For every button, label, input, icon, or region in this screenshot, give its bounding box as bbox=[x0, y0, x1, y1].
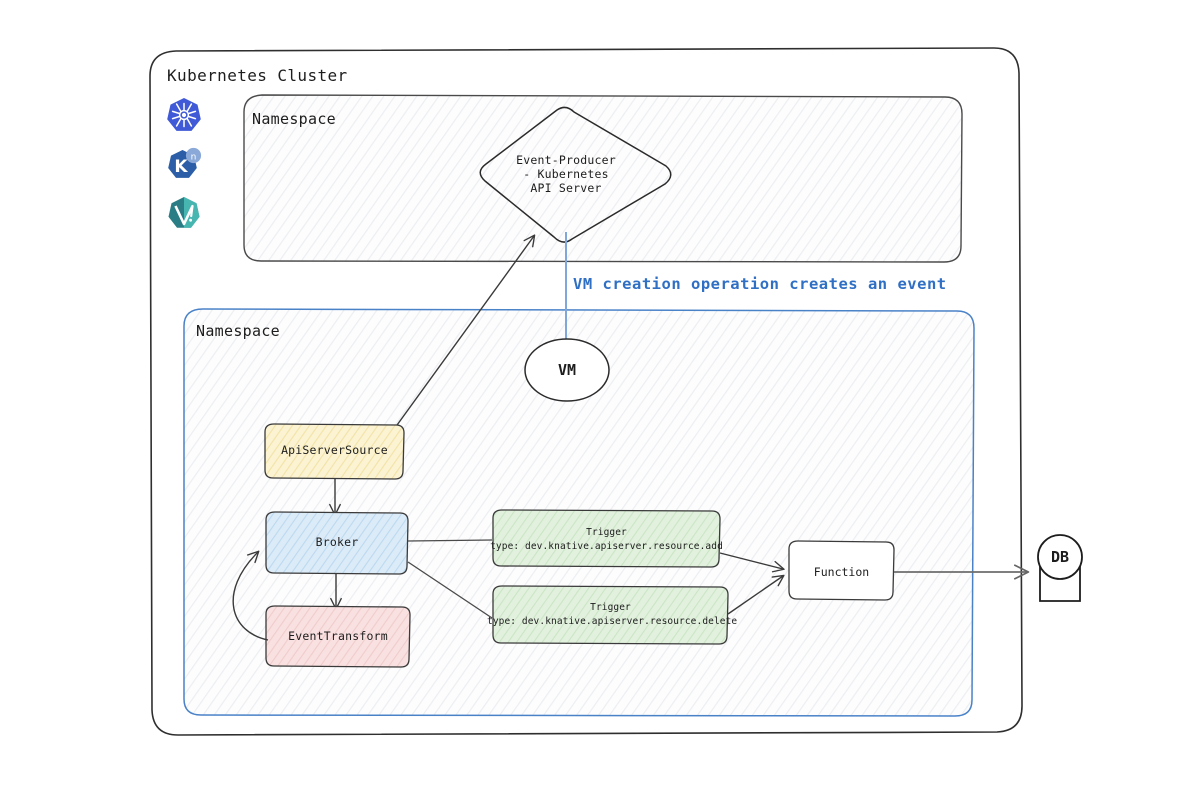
kubevirt-logo bbox=[164, 194, 204, 234]
knative-logo: K n bbox=[164, 145, 204, 185]
event-producer-line2: - Kubernetes bbox=[476, 168, 656, 182]
trigger-delete-title: Trigger bbox=[493, 602, 728, 614]
trigger-delete-type: type: dev.knative.apiserver.resource.del… bbox=[487, 616, 733, 628]
broker-label: Broker bbox=[266, 536, 408, 550]
trigger-add-type: type: dev.knative.apiserver.resource.add bbox=[488, 541, 725, 553]
db-label: DB bbox=[1030, 548, 1090, 566]
namespace-top-title: Namespace bbox=[252, 110, 336, 128]
cluster-title: Kubernetes Cluster bbox=[167, 66, 348, 85]
function-label: Function bbox=[789, 565, 894, 579]
svg-text:K: K bbox=[174, 157, 188, 177]
trigger-add-title: Trigger bbox=[493, 527, 720, 539]
trigger-delete-node[interactable] bbox=[493, 586, 728, 644]
eventtransform-label: EventTransform bbox=[266, 630, 410, 644]
event-producer-line3: API Server bbox=[476, 182, 656, 196]
svg-text:n: n bbox=[191, 153, 197, 163]
namespace-bottom-title: Namespace bbox=[196, 322, 280, 340]
db-node[interactable] bbox=[1038, 535, 1082, 601]
event-producer-line1: Event-Producer bbox=[476, 154, 656, 168]
apiserversource-label: ApiServerSource bbox=[265, 444, 404, 458]
kubernetes-logo bbox=[164, 96, 204, 136]
vm-label: VM bbox=[527, 361, 607, 379]
vm-creation-note: VM creation operation creates an event bbox=[573, 275, 947, 293]
diagram-canvas: K n Kubernetes Cluster Namespace Namespa… bbox=[0, 0, 1185, 808]
